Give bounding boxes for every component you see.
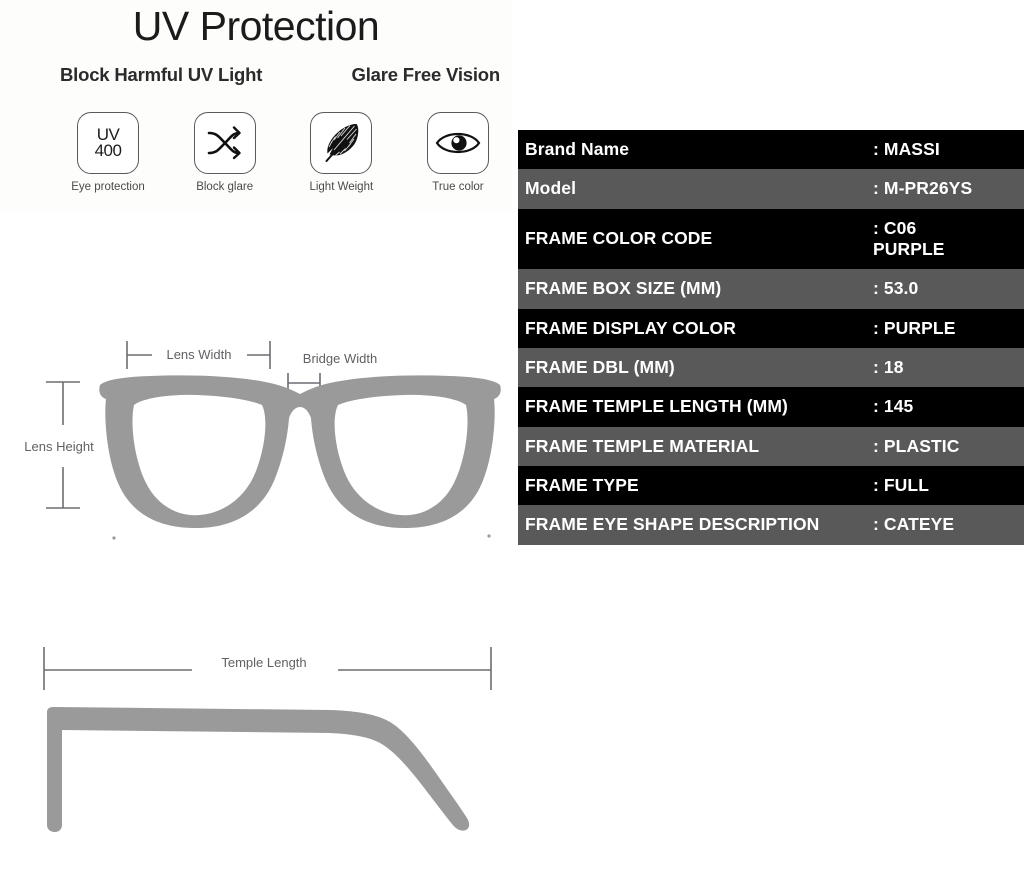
spec-value: : C06 PURPLE <box>873 209 1024 270</box>
spec-label: FRAME TYPE <box>518 466 873 505</box>
table-row: Brand Name : MASSI <box>518 130 1024 169</box>
hinge-dot-right <box>487 534 490 537</box>
spec-label: FRAME TEMPLE LENGTH (MM) <box>518 387 873 426</box>
shuffle-arrows-icon-box <box>194 112 256 174</box>
spec-value: : 18 <box>873 348 1024 387</box>
feature-eye-protection: UV 400 Eye protection <box>58 112 158 193</box>
spec-value: : 53.0 <box>873 269 1024 308</box>
spec-value: : 145 <box>873 387 1024 426</box>
table-row: FRAME TEMPLE LENGTH (MM) : 145 <box>518 387 1024 426</box>
spec-label: FRAME TEMPLE MATERIAL <box>518 427 873 466</box>
uv-subtitle-right: Glare Free Vision <box>352 64 500 86</box>
uv400-line2: 400 <box>95 143 122 159</box>
feature-light-weight: Light Weight <box>291 112 391 193</box>
eyeglass-frame-shape <box>99 375 501 528</box>
temple-length-label: Temple Length <box>221 655 306 670</box>
eyeglass-temple-measurement-diagram: Temple Length <box>0 630 512 860</box>
eyeglass-front-measurement-diagram: Lens Width Bridge Width Lens Height <box>0 325 512 565</box>
temple-arm-shape <box>47 707 469 832</box>
spec-table-body: Brand Name : MASSI Model : M-PR26YS FRAM… <box>518 130 1024 545</box>
lens-height-label: Lens Height <box>24 439 94 454</box>
feature-label-block-glare: Block glare <box>196 181 253 193</box>
uv-feature-list: UV 400 Eye protection <box>58 112 508 193</box>
spec-label: FRAME DBL (MM) <box>518 348 873 387</box>
table-row: Model : M-PR26YS <box>518 169 1024 208</box>
eye-icon-box <box>427 112 489 174</box>
spec-label: Model <box>518 169 873 208</box>
uv-subtitle-left: Block Harmful UV Light <box>60 64 262 86</box>
feather-icon-box <box>310 112 372 174</box>
spec-value: : FULL <box>873 466 1024 505</box>
table-row: FRAME DBL (MM) : 18 <box>518 348 1024 387</box>
spec-label: Brand Name <box>518 130 873 169</box>
feature-block-glare: Block glare <box>175 112 275 193</box>
uv-protection-banner: UV Protection Block Harmful UV Light Gla… <box>0 0 512 212</box>
table-row: FRAME TEMPLE MATERIAL : PLASTIC <box>518 427 1024 466</box>
feather-icon <box>320 121 362 165</box>
eye-icon <box>435 128 481 158</box>
feature-label-light-weight: Light Weight <box>309 181 373 193</box>
uv-subtitle-row: Block Harmful UV Light Glare Free Vision <box>60 64 500 86</box>
product-illustration-panel: UV Protection Block Harmful UV Light Gla… <box>0 0 512 886</box>
uv400-badge-icon: UV 400 <box>77 112 139 174</box>
spec-value: : PLASTIC <box>873 427 1024 466</box>
spec-label: FRAME EYE SHAPE DESCRIPTION <box>518 505 873 544</box>
spec-label: FRAME DISPLAY COLOR <box>518 309 873 348</box>
bridge-width-label: Bridge Width <box>303 351 377 366</box>
feature-label-true-color: True color <box>432 181 483 193</box>
table-row: FRAME BOX SIZE (MM) : 53.0 <box>518 269 1024 308</box>
lens-width-label: Lens Width <box>166 347 231 362</box>
spec-label: FRAME COLOR CODE <box>518 209 873 270</box>
table-row: FRAME TYPE : FULL <box>518 466 1024 505</box>
spec-value: : M-PR26YS <box>873 169 1024 208</box>
uv-protection-title: UV Protection <box>0 6 512 47</box>
spec-value: : MASSI <box>873 130 1024 169</box>
frame-specification-table: Brand Name : MASSI Model : M-PR26YS FRAM… <box>518 130 1024 545</box>
spec-value: : PURPLE <box>873 309 1024 348</box>
hinge-dot-left <box>112 536 115 539</box>
feature-true-color: True color <box>408 112 508 193</box>
feature-label-eye-protection: Eye protection <box>71 181 145 193</box>
table-row: FRAME DISPLAY COLOR : PURPLE <box>518 309 1024 348</box>
table-row: FRAME COLOR CODE : C06 PURPLE <box>518 209 1024 270</box>
shuffle-arrows-icon <box>205 124 245 162</box>
spec-label: FRAME BOX SIZE (MM) <box>518 269 873 308</box>
table-row: FRAME EYE SHAPE DESCRIPTION : CATEYE <box>518 505 1024 544</box>
spec-value: : CATEYE <box>873 505 1024 544</box>
